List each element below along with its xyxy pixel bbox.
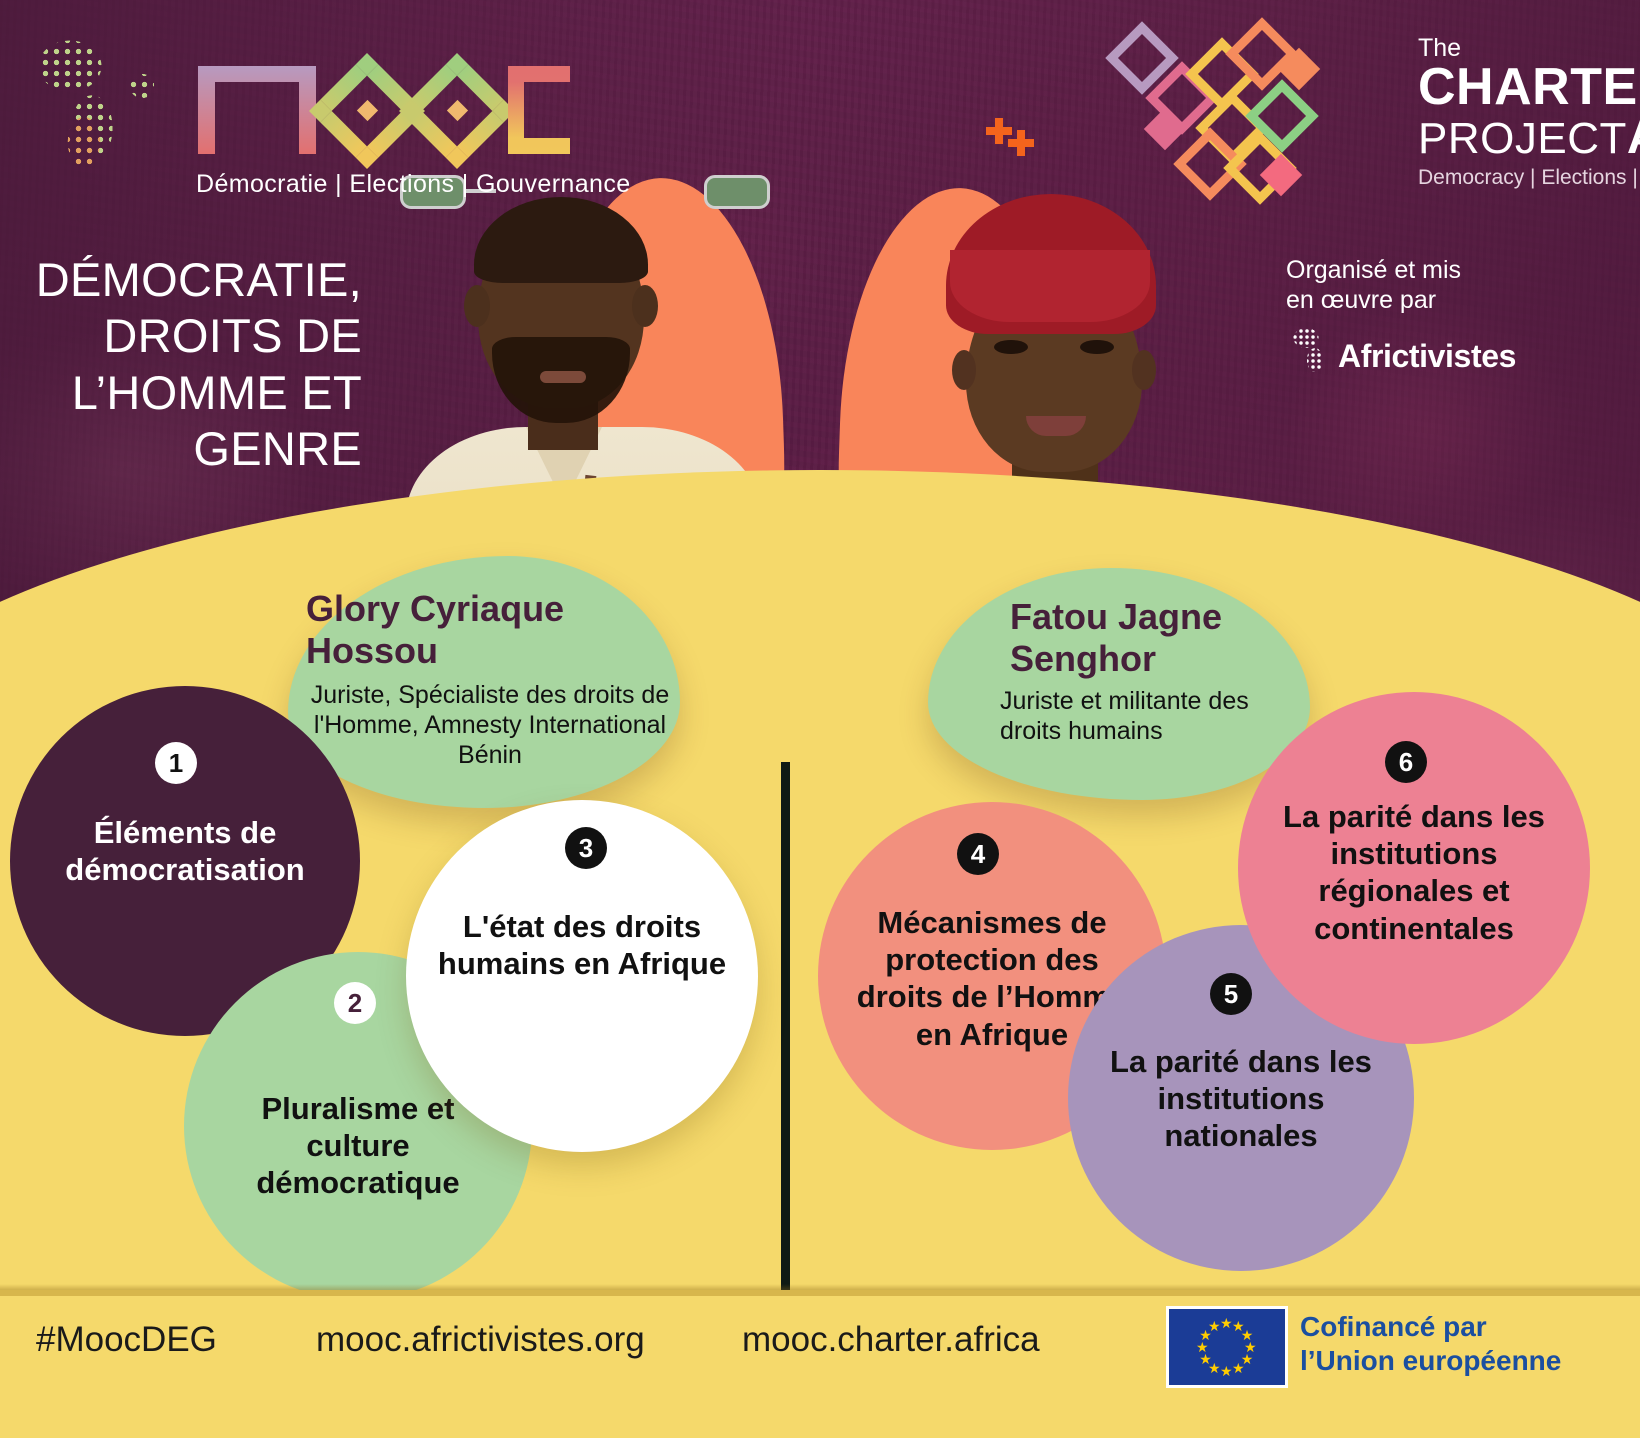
- eu-star-icon: ★: [1220, 1316, 1233, 1330]
- page-title: DÉMOCRATIE, DROITS DE L’HOMME ET GENRE: [12, 252, 362, 478]
- speaker-1-name: Glory Cyriaque Hossou: [306, 588, 636, 672]
- infographic-poster: Démocratie | Elections | Gouvernance The…: [0, 0, 1640, 1438]
- speaker-2-role: Juriste et militante des droits humains: [1000, 686, 1300, 746]
- vertical-divider: [781, 762, 790, 1290]
- charter-project-africa-logo[interactable]: The CHARTER PROJECT Africa Democracy | E…: [1088, 10, 1632, 190]
- topic-label-1: Éléments de démocratisation: [35, 814, 336, 888]
- topic-number-badge-1: 1: [155, 742, 197, 784]
- mooc-tagline: Démocratie | Elections | Gouvernance: [196, 170, 631, 199]
- topic-number-badge-5: 5: [1210, 973, 1252, 1015]
- footer-url-charter[interactable]: mooc.charter.africa: [742, 1320, 1040, 1360]
- africtivistes-logo[interactable]: Africtivistes: [1286, 322, 1536, 376]
- topic-number-badge-6: 6: [1385, 741, 1427, 783]
- topic-number-badge-4: 4: [957, 833, 999, 875]
- eu-star-icon: ★: [1208, 1319, 1221, 1333]
- organiser-label-line1: Organisé et mis: [1286, 256, 1536, 286]
- topic-label-5: La parité dans les institutions national…: [1092, 1043, 1390, 1155]
- topic-label-6: La parité dans les institutions régional…: [1263, 798, 1566, 947]
- topic-label-2: Pluralisme et culture démocratique: [208, 1090, 507, 1202]
- eu-funding-line2: l’Union européenne: [1300, 1344, 1561, 1378]
- eu-funding-line1: Cofinancé par: [1300, 1310, 1561, 1344]
- speaker-2-name: Fatou Jagne Senghor: [1010, 596, 1310, 680]
- topic-number-badge-3: 3: [565, 827, 607, 869]
- footer-hashtag: #MoocDEG: [36, 1320, 217, 1360]
- africa-map-dots-icon-lower: [18, 24, 178, 184]
- charter-africa-label: Africa: [1627, 114, 1640, 163]
- topic-label-3: L'état des droits humains en Afrique: [431, 908, 734, 982]
- mooc-letter-m-icon: [198, 66, 316, 154]
- eu-star-icon: ★: [1220, 1364, 1233, 1378]
- mooc-letter-c-icon: [508, 66, 570, 154]
- charter-tagline: Democracy | Elections | Governance: [1418, 166, 1640, 190]
- charter-main-label: CHARTER: [1418, 61, 1640, 114]
- footer-url-africtivistes[interactable]: mooc.africtivistes.org: [316, 1320, 645, 1360]
- eu-funding-label: Cofinancé par l’Union européenne: [1300, 1310, 1561, 1378]
- africtivistes-label: Africtivistes: [1338, 338, 1516, 375]
- organiser-block: Organisé et mis en œuvre par Africtivist…: [1286, 256, 1536, 315]
- mooc-logo[interactable]: Démocratie | Elections | Gouvernance: [8, 18, 568, 188]
- eu-flag-icon: ★★★★★★★★★★★★: [1166, 1306, 1288, 1388]
- charter-project-label: PROJECT: [1418, 117, 1627, 162]
- topic-number-badge-2: 2: [334, 982, 376, 1024]
- speaker-1-role: Juriste, Spécialiste des droits de l'Hom…: [300, 680, 680, 770]
- eu-star-icon: ★: [1232, 1361, 1245, 1375]
- organiser-label-line2: en œuvre par: [1286, 286, 1536, 316]
